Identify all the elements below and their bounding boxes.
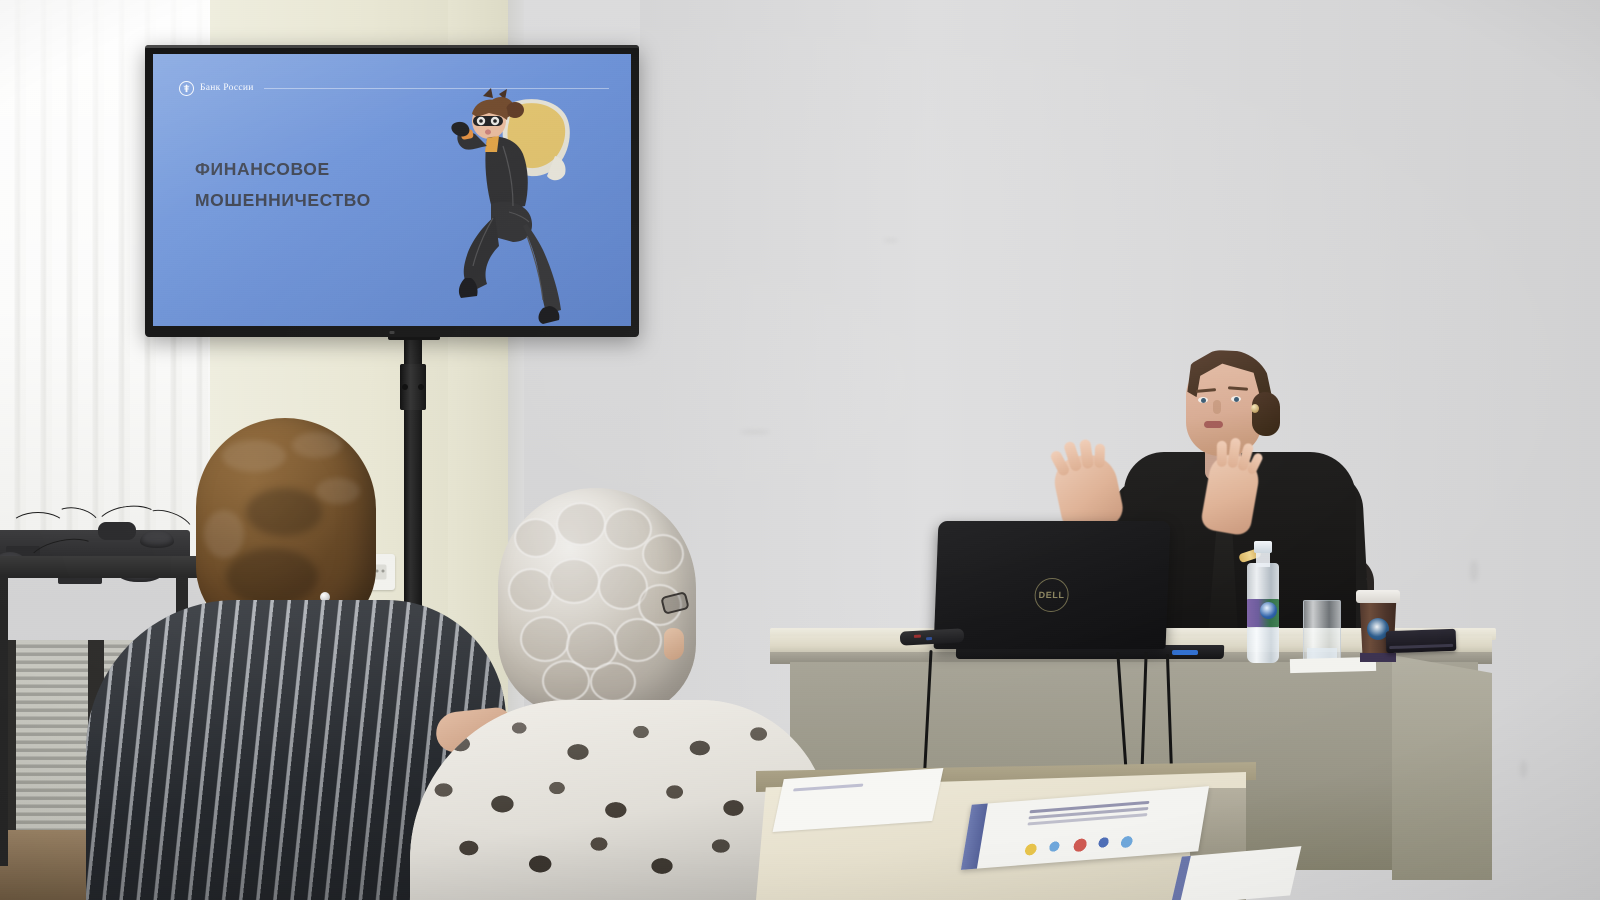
slide-title: ФИНАНСОВОЕ МОШЕННИЧЕСТВО <box>195 154 445 215</box>
hair-curl <box>548 558 600 604</box>
hair-curl <box>508 568 554 612</box>
hair-highlight <box>292 432 342 458</box>
hair-curl <box>520 616 570 662</box>
presenter-eye-left <box>1198 397 1208 403</box>
hair-curl <box>556 502 606 546</box>
hair-highlight <box>222 440 286 472</box>
brand-name: Банк России <box>200 83 254 93</box>
paper-text-line <box>793 784 863 792</box>
dell-brand-text: DELL <box>1038 590 1064 600</box>
bottle-brand-icon <box>1260 602 1277 619</box>
wall-mark <box>884 239 898 242</box>
slide-title-line-2: МОШЕННИЧЕСТВО <box>195 185 445 216</box>
masked-thief-illustration <box>431 86 576 326</box>
hair-curl <box>642 534 684 574</box>
wall-mark <box>1470 560 1478 582</box>
slide-title-line-1: ФИНАНСОВОЕ <box>195 154 445 185</box>
wall-mark <box>1520 760 1527 778</box>
booklet-title-lines <box>1029 801 1149 813</box>
finger <box>1217 441 1227 467</box>
presentation-screen[interactable]: Банк России ФИНАНСОВОЕ МОШЕННИЧЕСТВО <box>145 45 639 337</box>
bottle-neck <box>1256 551 1270 567</box>
presenter-eye-right <box>1231 396 1241 402</box>
presenter-mouth <box>1204 421 1223 428</box>
wall-mark <box>740 430 770 434</box>
laptop-usb-indicator <box>1172 650 1198 655</box>
clamp-bolt <box>418 384 424 390</box>
smartphone[interactable] <box>1386 629 1457 653</box>
hair-shadow <box>226 548 318 606</box>
finger <box>1094 444 1105 468</box>
presenter-earring <box>1251 404 1259 413</box>
cup-bottom-band <box>1360 653 1396 662</box>
hair-curl <box>614 618 662 662</box>
audience-member-front-right-ear <box>664 628 684 660</box>
tv-power-led <box>390 331 395 334</box>
presenter-nose <box>1213 400 1221 414</box>
bank-of-russia-emblem-icon <box>179 81 194 96</box>
phone-edge-highlight <box>1389 644 1453 649</box>
hair-highlight <box>204 510 244 558</box>
presenter-desk-side-panel <box>1392 655 1492 880</box>
lecture-room-photo: Банк России ФИНАНСОВОЕ МОШЕННИЧЕСТВО <box>0 0 1600 900</box>
presenter-hair-bun <box>1252 392 1280 436</box>
remote-button[interactable] <box>926 637 932 640</box>
remote-power-button[interactable] <box>914 635 921 638</box>
equipment-table <box>0 556 200 578</box>
bottle-cap[interactable] <box>1254 541 1272 553</box>
equipment-table-leg <box>0 576 8 866</box>
hair-highlight <box>316 478 360 504</box>
clamp-bolt <box>402 384 408 390</box>
dell-logo-icon: DELL <box>1034 578 1069 612</box>
hair-curl <box>590 662 636 702</box>
booklet-cover-illustration <box>1014 827 1147 860</box>
tv-stand-clamp <box>400 364 426 410</box>
hair-curl <box>542 660 590 702</box>
cup-lid[interactable] <box>1356 590 1400 603</box>
hair-curl <box>514 518 558 558</box>
hair-shadow <box>246 488 322 536</box>
slide-surface: Банк России ФИНАНСОВОЕ МОШЕННИЧЕСТВО <box>153 54 631 326</box>
dell-laptop[interactable]: DELL <box>934 521 1171 649</box>
